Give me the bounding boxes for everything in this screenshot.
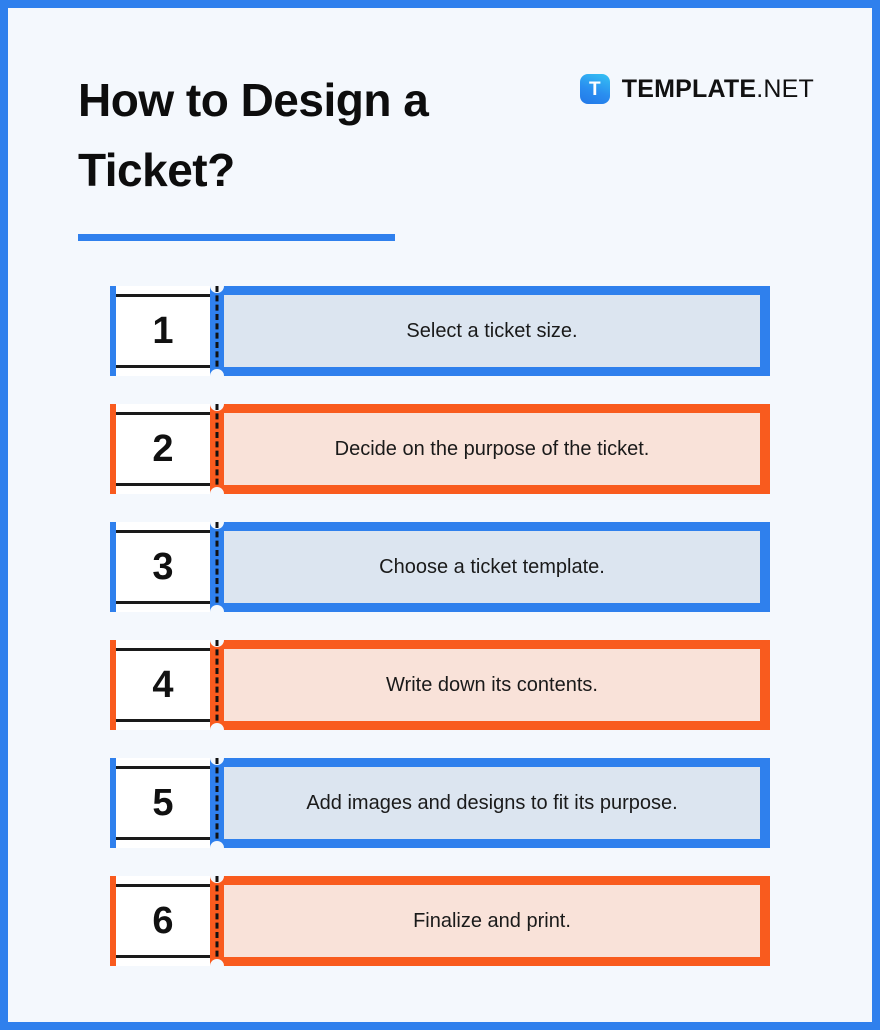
brand-name-light: .NET (756, 75, 814, 103)
step-number: 6 (116, 876, 210, 966)
ticket-body-fill: Finalize and print. (224, 885, 760, 957)
ticket-body-fill: Decide on the purpose of the ticket. (224, 413, 760, 485)
ticket-body-fill: Write down its contents. (224, 649, 760, 721)
list-item: 6 Finalize and print. (110, 876, 770, 966)
step-text: Decide on the purpose of the ticket. (335, 436, 650, 462)
step-number: 4 (116, 640, 210, 730)
ticket-body: Select a ticket size. (224, 286, 770, 376)
ticket-stub: 4 (110, 640, 210, 730)
list-item: 5 Add images and designs to fit its purp… (110, 758, 770, 848)
step-text: Select a ticket size. (406, 318, 577, 344)
ticket-stub: 1 (110, 286, 210, 376)
header: How to Design a Ticket? T TEMPLATE.NET (8, 8, 872, 258)
steps-list: 1 Select a ticket size. 2 (110, 286, 770, 966)
ticket-body-fill: Add images and designs to fit its purpos… (224, 767, 760, 839)
ticket-perforation (210, 876, 224, 966)
ticket-perforation (210, 640, 224, 730)
step-text: Finalize and print. (413, 908, 571, 934)
ticket-body: Finalize and print. (224, 876, 770, 966)
step-text: Write down its contents. (386, 672, 598, 698)
template-net-logo-icon: T (580, 74, 610, 104)
ticket-body-fill: Select a ticket size. (224, 295, 760, 367)
list-item: 4 Write down its contents. (110, 640, 770, 730)
perforation-notch-bottom (210, 723, 224, 737)
ticket-stub: 2 (110, 404, 210, 494)
ticket-perforation (210, 522, 224, 612)
infographic-page: How to Design a Ticket? T TEMPLATE.NET 1 (0, 0, 880, 1030)
ticket-perforation (210, 758, 224, 848)
ticket-stub: 6 (110, 876, 210, 966)
ticket-body: Write down its contents. (224, 640, 770, 730)
perforation-dashed-line (216, 286, 219, 376)
step-number: 3 (116, 522, 210, 612)
brand-wordmark: TEMPLATE.NET (622, 77, 814, 102)
perforation-dashed-line (216, 758, 219, 848)
ticket-perforation (210, 404, 224, 494)
step-text: Add images and designs to fit its purpos… (306, 790, 677, 816)
brand-logo: T TEMPLATE.NET (580, 74, 814, 104)
ticket-perforation (210, 286, 224, 376)
page-title: How to Design a Ticket? (78, 66, 498, 206)
perforation-dashed-line (216, 640, 219, 730)
perforation-notch-bottom (210, 487, 224, 501)
title-underline-rule (78, 234, 395, 241)
step-text: Choose a ticket template. (379, 554, 605, 580)
perforation-notch-bottom (210, 605, 224, 619)
ticket-body: Decide on the purpose of the ticket. (224, 404, 770, 494)
ticket-stub: 3 (110, 522, 210, 612)
brand-name-strong: TEMPLATE (622, 75, 756, 103)
list-item: 2 Decide on the purpose of the ticket. (110, 404, 770, 494)
ticket-body-fill: Choose a ticket template. (224, 531, 760, 603)
perforation-notch-bottom (210, 841, 224, 855)
ticket-body: Choose a ticket template. (224, 522, 770, 612)
step-number: 5 (116, 758, 210, 848)
ticket-body: Add images and designs to fit its purpos… (224, 758, 770, 848)
perforation-dashed-line (216, 404, 219, 494)
ticket-stub: 5 (110, 758, 210, 848)
step-number: 1 (116, 286, 210, 376)
perforation-dashed-line (216, 876, 219, 966)
logo-letter: T (580, 74, 610, 104)
step-number: 2 (116, 404, 210, 494)
perforation-notch-bottom (210, 369, 224, 383)
list-item: 3 Choose a ticket template. (110, 522, 770, 612)
list-item: 1 Select a ticket size. (110, 286, 770, 376)
perforation-notch-bottom (210, 959, 224, 973)
perforation-dashed-line (216, 522, 219, 612)
